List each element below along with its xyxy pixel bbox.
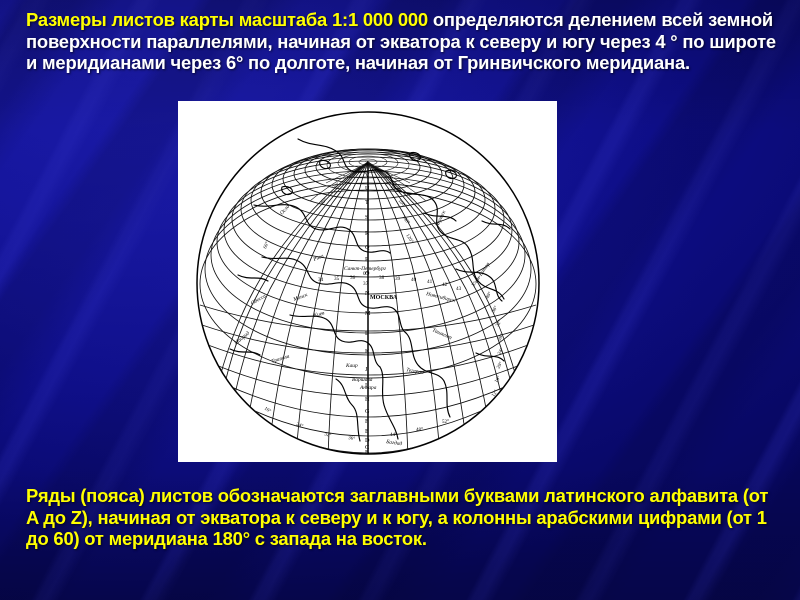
col-label-35: 35 [334,276,340,282]
col-label-40: 40 [411,277,417,283]
city-label-saint-petersburg: Санкт-Петербург [344,265,386,272]
row-label-B: B [365,449,369,456]
col-label-39: 39 [395,276,401,282]
row-label-M: M [365,310,371,317]
row-label-Z: Z [365,160,369,167]
presentation-slide: Размеры листов карты масштаба 1:1 000 00… [0,0,800,600]
bottom-paragraph: Ряды (пояса) листов обозначаются заглавн… [26,485,782,550]
col-label-37: 37 [363,281,369,287]
city-label-tripoli: Триполи [270,353,290,365]
col-label-42: 42 [442,282,448,288]
col-label-34: 34 [318,277,324,283]
city-label-baghdad: Багдад [384,438,402,447]
city-label-cairo: Каир [345,363,358,369]
col-label-41: 41 [427,279,433,285]
col-label-36: 36 [350,275,356,281]
lat-tick-32-left: 32° [323,432,331,439]
lat-tick-44: 44° [390,433,397,438]
row-label-R: R [365,230,370,237]
row-label-K: K [365,348,370,355]
lat-tick-4: 4° [481,416,488,422]
top-paragraph-highlight: Размеры листов карты масштаба 1:1 000 00… [26,9,428,30]
row-label-D: D [365,437,370,444]
lat-tick-28: 28° [497,333,505,342]
lat-tick-24: 24° [497,347,505,356]
lat-tick-52: 52° [442,420,449,425]
city-label-moscow: МОСКВА [370,295,398,301]
city-label-ankara: Анкара [359,385,377,391]
city-label-tashkent: Ташкент [431,327,453,341]
lat-tick-48: 48° [416,428,423,433]
bottom-paragraph-text: Ряды (пояса) листов обозначаются заглавн… [26,485,768,549]
lat-tick-36: 36° [491,305,499,314]
city-label-warsaw: Варшава [352,377,373,383]
row-label-T: T [365,199,369,206]
col-label-38: 38 [379,275,385,281]
lat-tick-24-left: 24° [295,422,303,429]
row-label-S: S [365,214,369,221]
city-label-riga: Рига [311,253,324,263]
lat-tick-20: 20° [496,361,504,370]
lat-tick-16-left: 16° [262,407,271,415]
lat-tick-16: 16° [494,375,502,384]
city-label-novosibirsk: Новосибирск [424,290,456,304]
lon-tick-60: 60° [263,241,270,249]
top-paragraph: Размеры листов карты масштаба 1:1 000 00… [26,9,782,74]
row-label-L: L [365,330,369,337]
col-label-43: 43 [456,286,462,292]
row-label-H: H [365,396,370,403]
lat-tick-40: 40° [485,291,493,300]
lat-tick-12: 12° [491,389,499,398]
row-label-F: F [365,418,369,425]
lat-tick-36-left: 36° [347,436,355,442]
row-label-E: E [365,428,369,435]
row-label-P: P [365,256,369,263]
globe-figure-panel: Z V U T S R Q P O N M L K J I H G [178,101,557,462]
globe-image: Z V U T S R Q P O N M L K J I H G [194,109,542,457]
city-label-minsk: Минск [291,292,308,303]
city-label-yakutsk: Якутск [433,209,447,228]
globe-graticule: Z V U T S R Q P O N M L K J I H G [200,139,536,457]
row-label-V: V [365,172,370,179]
city-label-odessa: Одесса [249,292,267,306]
row-label-U: U [365,185,370,192]
lon-tick-180: 180° [388,185,399,195]
globe-svg: Z V U T S R Q P O N M L K J I H G [194,109,542,457]
row-label-G: G [365,408,370,415]
row-label-Q: Q [365,244,370,251]
